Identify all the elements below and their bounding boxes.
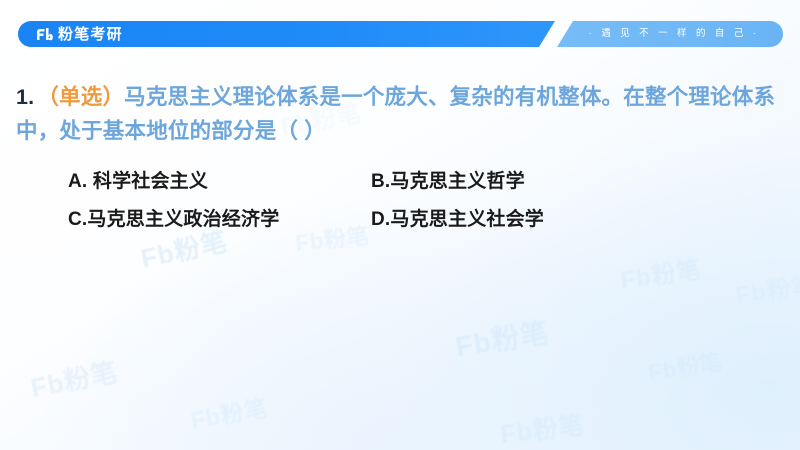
brand-logo-group: 粉笔考研 — [34, 27, 123, 42]
watermark: Fb粉笔 — [498, 405, 586, 450]
question-block: 1.（单选）马克思主义理论体系是一个庞大、复杂的有机整体。在整个理论体系 中，处… — [16, 80, 786, 148]
question-number: 1. — [16, 85, 34, 109]
option-a[interactable]: A. 科学社会主义 — [68, 166, 371, 193]
watermark: Fb粉笔 — [452, 311, 551, 365]
slide-canvas: Fb粉笔 Fb粉笔 Fb粉笔 Fb粉笔 Fb粉笔 Fb粉笔 Fb粉笔 Fb粉笔 … — [0, 0, 800, 450]
watermark: Fb粉笔 — [618, 250, 703, 296]
question-line-1: 1.（单选）马克思主义理论体系是一个庞大、复杂的有机整体。在整个理论体系 — [16, 80, 786, 114]
options-list: A. 科学社会主义 B.马克思主义哲学 C.马克思主义政治经济学 D.马克思主义… — [68, 160, 768, 236]
option-c[interactable]: C.马克思主义政治经济学 — [68, 204, 371, 231]
watermark: Fb粉笔 — [188, 388, 271, 435]
options-row-1: A. 科学社会主义 B.马克思主义哲学 — [68, 160, 768, 198]
options-row-2: C.马克思主义政治经济学 D.马克思主义社会学 — [68, 198, 768, 236]
watermark: Fb粉笔 — [27, 352, 120, 405]
question-text-line-1: 马克思主义理论体系是一个庞大、复杂的有机整体。在整个理论体系 — [124, 85, 775, 109]
question-line-2: 中，处于基本地位的部分是（ ） — [16, 114, 786, 148]
tagline-text: · 遇 见 不 一 样 的 自 己 · — [581, 29, 760, 39]
watermark: Fb粉笔 — [646, 344, 725, 387]
question-text-line-2: 中，处于基本地位的部分是（ ） — [16, 119, 326, 143]
option-d[interactable]: D.马克思主义社会学 — [371, 204, 544, 231]
tagline-bar: · 遇 见 不 一 样 的 自 己 · — [557, 21, 783, 47]
header: 粉笔考研 · 遇 见 不 一 样 的 自 己 · — [0, 21, 800, 47]
option-b[interactable]: B.马克思主义哲学 — [371, 166, 525, 193]
watermark: Fb粉笔 — [733, 265, 800, 311]
brand-bar: 粉笔考研 — [18, 21, 555, 47]
fb-logo-icon — [34, 27, 53, 42]
question-type-tag: （单选） — [37, 85, 124, 109]
brand-name: 粉笔考研 — [58, 27, 123, 42]
